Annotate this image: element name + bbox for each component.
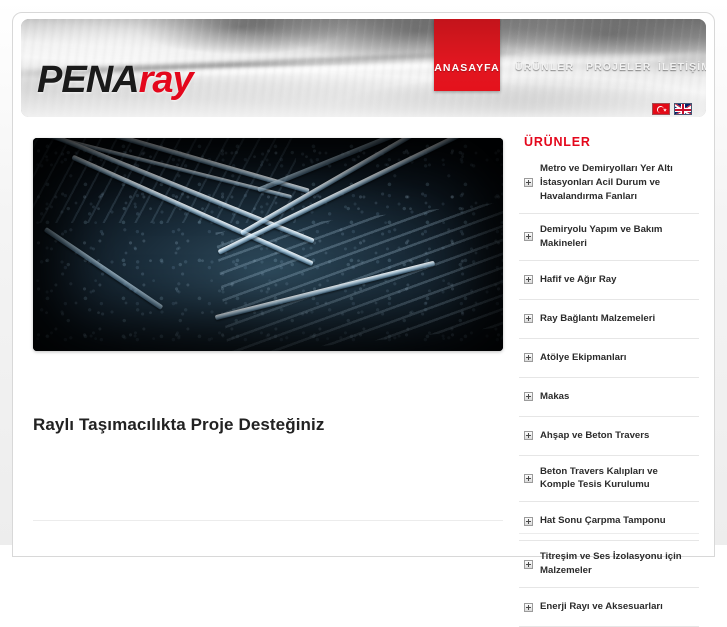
sidebar-item-label: Makas	[540, 390, 569, 404]
logo-text-accent: ray	[139, 59, 193, 101]
hero-image	[33, 138, 503, 351]
nav-item-anasayfa[interactable]: ANASAYFA	[434, 19, 500, 91]
sidebar-item-label: Ray Bağlantı Malzemeleri	[540, 312, 655, 326]
products-sidebar: ÜRÜNLER Metro ve Demiryolları Yer Altı İ…	[519, 125, 699, 627]
uk-flag-icon[interactable]	[674, 103, 692, 115]
expand-plus-icon[interactable]	[524, 560, 533, 569]
expand-plus-icon[interactable]	[524, 474, 533, 483]
nav-item-projeler[interactable]: PROJELER	[586, 61, 651, 73]
sidebar-item-0[interactable]: Metro ve Demiryolları Yer Altı İstasyonl…	[519, 153, 699, 214]
sidebar-item-label: Atölye Ekipmanları	[540, 351, 626, 365]
expand-plus-icon[interactable]	[524, 603, 533, 612]
sidebar-item-8[interactable]: Hat Sonu Çarpma Tamponu	[519, 502, 699, 541]
logo-text-primary: PENA	[37, 59, 139, 101]
nav-item-iletisim[interactable]: İLETİŞİM	[658, 61, 706, 73]
page-frame: PENAray ANASAYFA ÜRÜNLER PROJELER İLETİŞ…	[0, 0, 727, 545]
page-title: Raylı Taşımacılıkta Proje Desteğiniz	[33, 415, 324, 435]
site-logo[interactable]: PENAray	[37, 61, 193, 99]
content-divider	[33, 520, 503, 521]
content-area: Raylı Taşımacılıkta Proje Desteğiniz ÜRÜ…	[21, 125, 706, 545]
sidebar-item-label: Ahşap ve Beton Travers	[540, 429, 649, 443]
sidebar-item-label: Titreşim ve Ses İzolasyonu için Malzemel…	[540, 550, 695, 578]
sidebar-item-label: Demiryolu Yapım ve Bakım Makineleri	[540, 223, 695, 251]
turkish-flag-icon[interactable]	[652, 103, 670, 115]
expand-plus-icon[interactable]	[524, 353, 533, 362]
sidebar-item-1[interactable]: Demiryolu Yapım ve Bakım Makineleri	[519, 214, 699, 261]
sidebar-item-label: Hat Sonu Çarpma Tamponu	[540, 514, 666, 528]
nav-item-anasayfa-label: ANASAYFA	[434, 62, 500, 74]
language-switcher	[652, 103, 692, 115]
expand-plus-icon[interactable]	[524, 431, 533, 440]
sidebar-item-label: Beton Travers Kalıpları ve Komple Tesis …	[540, 465, 695, 493]
sidebar-item-10[interactable]: Enerji Rayı ve Aksesuarları	[519, 588, 699, 627]
site-header: PENAray ANASAYFA ÜRÜNLER PROJELER İLETİŞ…	[21, 19, 706, 117]
sidebar-item-2[interactable]: Hafif ve Ağır Ray	[519, 261, 699, 300]
sidebar-title: ÜRÜNLER	[519, 125, 699, 153]
sidebar-item-4[interactable]: Atölye Ekipmanları	[519, 339, 699, 378]
expand-plus-icon[interactable]	[524, 314, 533, 323]
expand-plus-icon[interactable]	[524, 392, 533, 401]
expand-plus-icon[interactable]	[524, 275, 533, 284]
expand-plus-icon[interactable]	[524, 517, 533, 526]
expand-plus-icon[interactable]	[524, 178, 533, 187]
sidebar-item-label: Enerji Rayı ve Aksesuarları	[540, 600, 663, 614]
sidebar-item-label: Metro ve Demiryolları Yer Altı İstasyonl…	[540, 162, 695, 204]
sidebar-item-label: Hafif ve Ağır Ray	[540, 273, 616, 287]
sidebar-item-5[interactable]: Makas	[519, 378, 699, 417]
hero-vignette	[33, 138, 503, 351]
sidebar-item-9[interactable]: Titreşim ve Ses İzolasyonu için Malzemel…	[519, 541, 699, 588]
expand-plus-icon[interactable]	[524, 232, 533, 241]
sidebar-item-7[interactable]: Beton Travers Kalıpları ve Komple Tesis …	[519, 456, 699, 503]
sidebar-item-6[interactable]: Ahşap ve Beton Travers	[519, 417, 699, 456]
sidebar-item-3[interactable]: Ray Bağlantı Malzemeleri	[519, 300, 699, 339]
nav-item-urunler[interactable]: ÜRÜNLER	[515, 61, 574, 73]
